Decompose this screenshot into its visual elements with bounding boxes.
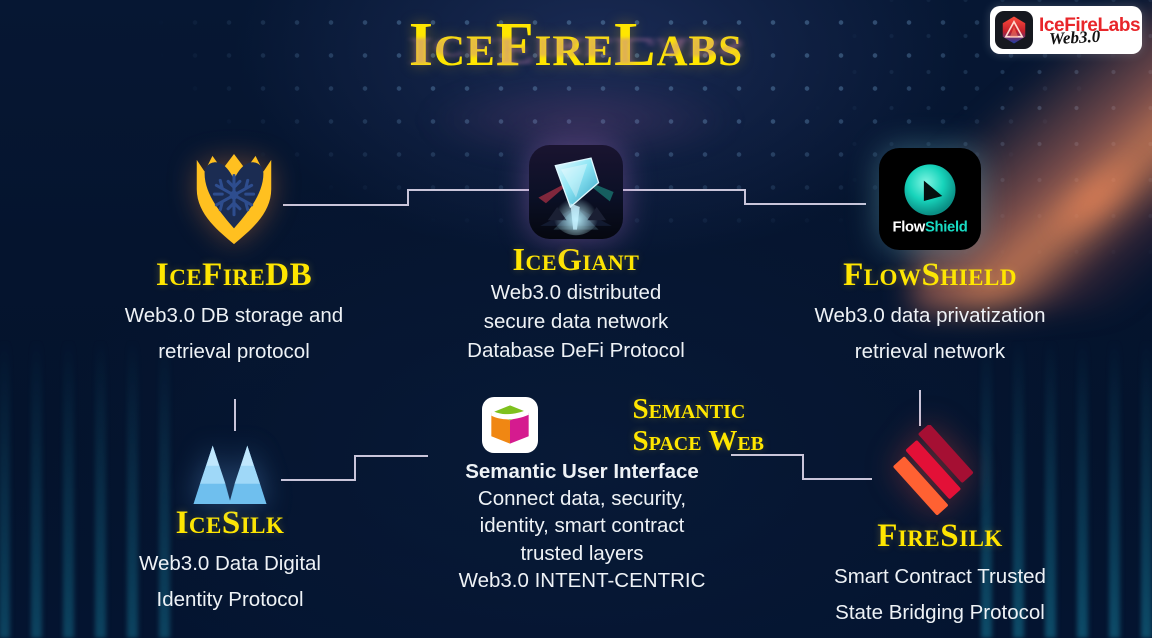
node-semantic-space-web[interactable]: Semantic Space Web Semantic User Interfa… bbox=[400, 393, 764, 594]
connector-flowshield-to-firesilk bbox=[919, 390, 921, 426]
node-icegiant-title: IceGiant bbox=[396, 243, 756, 277]
flowshield-icon-label-secondary: Shield bbox=[925, 220, 968, 236]
page-title-reflection: IceFireLabs bbox=[0, 32, 1152, 70]
ssw-title-line1: Semantic bbox=[633, 393, 765, 425]
node-flowshield-description-line1: Web3.0 data privatization bbox=[740, 302, 1120, 329]
red-diagonal-bars-icon bbox=[760, 425, 1120, 517]
node-icegiant-description-line2: secure data network bbox=[396, 308, 756, 335]
connector-icefiredb-to-icesilk bbox=[234, 399, 236, 431]
ice-crystal-sword-icon bbox=[396, 145, 756, 239]
node-icefiredb-title: IceFireDB bbox=[34, 258, 434, 293]
node-firesilk-description-line2: State Bridging Protocol bbox=[760, 599, 1120, 626]
crown-heart-snowflake-icon bbox=[34, 150, 434, 250]
node-firesilk[interactable]: FireSilk Smart Contract Trusted State Br… bbox=[760, 425, 1120, 626]
blue-faceted-m-icon bbox=[34, 440, 426, 506]
node-semantic-space-web-description-line1: Connect data, security, bbox=[400, 485, 764, 512]
brand-logo-tagline: Web3.0 bbox=[1049, 25, 1141, 47]
node-semantic-space-web-tagline: Web3.0 INTENT-CENTRIC bbox=[400, 567, 764, 594]
node-icesilk[interactable]: IceSilk Web3.0 Data Digital Identity Pro… bbox=[34, 440, 426, 613]
node-icegiant-description-line1: Web3.0 distributed bbox=[396, 279, 756, 306]
node-semantic-space-web-header: Semantic Space Web bbox=[400, 393, 764, 458]
page-title-block: IceFireLabs IceFireLabs bbox=[0, 14, 1152, 132]
node-flowshield-title: FlowShield bbox=[740, 258, 1120, 293]
node-icefiredb-description-line2: retrieval protocol bbox=[34, 338, 434, 365]
brand-logo-badge[interactable]: IceFireLabs Web3.0 bbox=[990, 6, 1142, 54]
node-semantic-space-web-description-line3: trusted layers bbox=[400, 540, 764, 567]
icefirelabs-hexagon-icon bbox=[995, 11, 1033, 49]
brand-logo-text: IceFireLabs Web3.0 bbox=[1039, 16, 1140, 45]
node-icesilk-title: IceSilk bbox=[34, 506, 426, 541]
node-icefiredb-description-line1: Web3.0 DB storage and bbox=[34, 302, 434, 329]
node-firesilk-description-line1: Smart Contract Trusted bbox=[760, 563, 1120, 590]
node-semantic-space-web-description-line2: identity, smart contract bbox=[400, 512, 764, 539]
node-icefiredb[interactable]: IceFireDB Web3.0 DB storage and retrieva… bbox=[34, 150, 434, 365]
ssw-title-line2: Space Web bbox=[633, 425, 765, 457]
flowshield-icon-label-primary: Flow bbox=[893, 220, 926, 236]
node-semantic-space-web-title: Semantic Space Web bbox=[633, 393, 765, 458]
node-flowshield[interactable]: FlowShield FlowShield Web3.0 data privat… bbox=[740, 148, 1120, 365]
node-icegiant-description-line3: Database DeFi Protocol bbox=[396, 337, 756, 364]
node-semantic-space-web-subtitle: Semantic User Interface bbox=[400, 458, 764, 485]
svg-text:FlowShield: FlowShield bbox=[893, 220, 968, 236]
node-firesilk-title: FireSilk bbox=[760, 519, 1120, 554]
node-icegiant[interactable]: IceGiant Web3.0 distributed secure data … bbox=[396, 145, 756, 364]
infographic-canvas: IceFireLabs IceFireLabs IceFireLabs Web3… bbox=[0, 0, 1152, 638]
node-icesilk-description-line2: Identity Protocol bbox=[34, 586, 426, 613]
teal-orb-shield-icon: FlowShield bbox=[740, 148, 1120, 250]
node-icesilk-description-line1: Web3.0 Data Digital bbox=[34, 550, 426, 577]
node-flowshield-description-line2: retrieval network bbox=[740, 338, 1120, 365]
color-cube-icon bbox=[482, 397, 538, 453]
